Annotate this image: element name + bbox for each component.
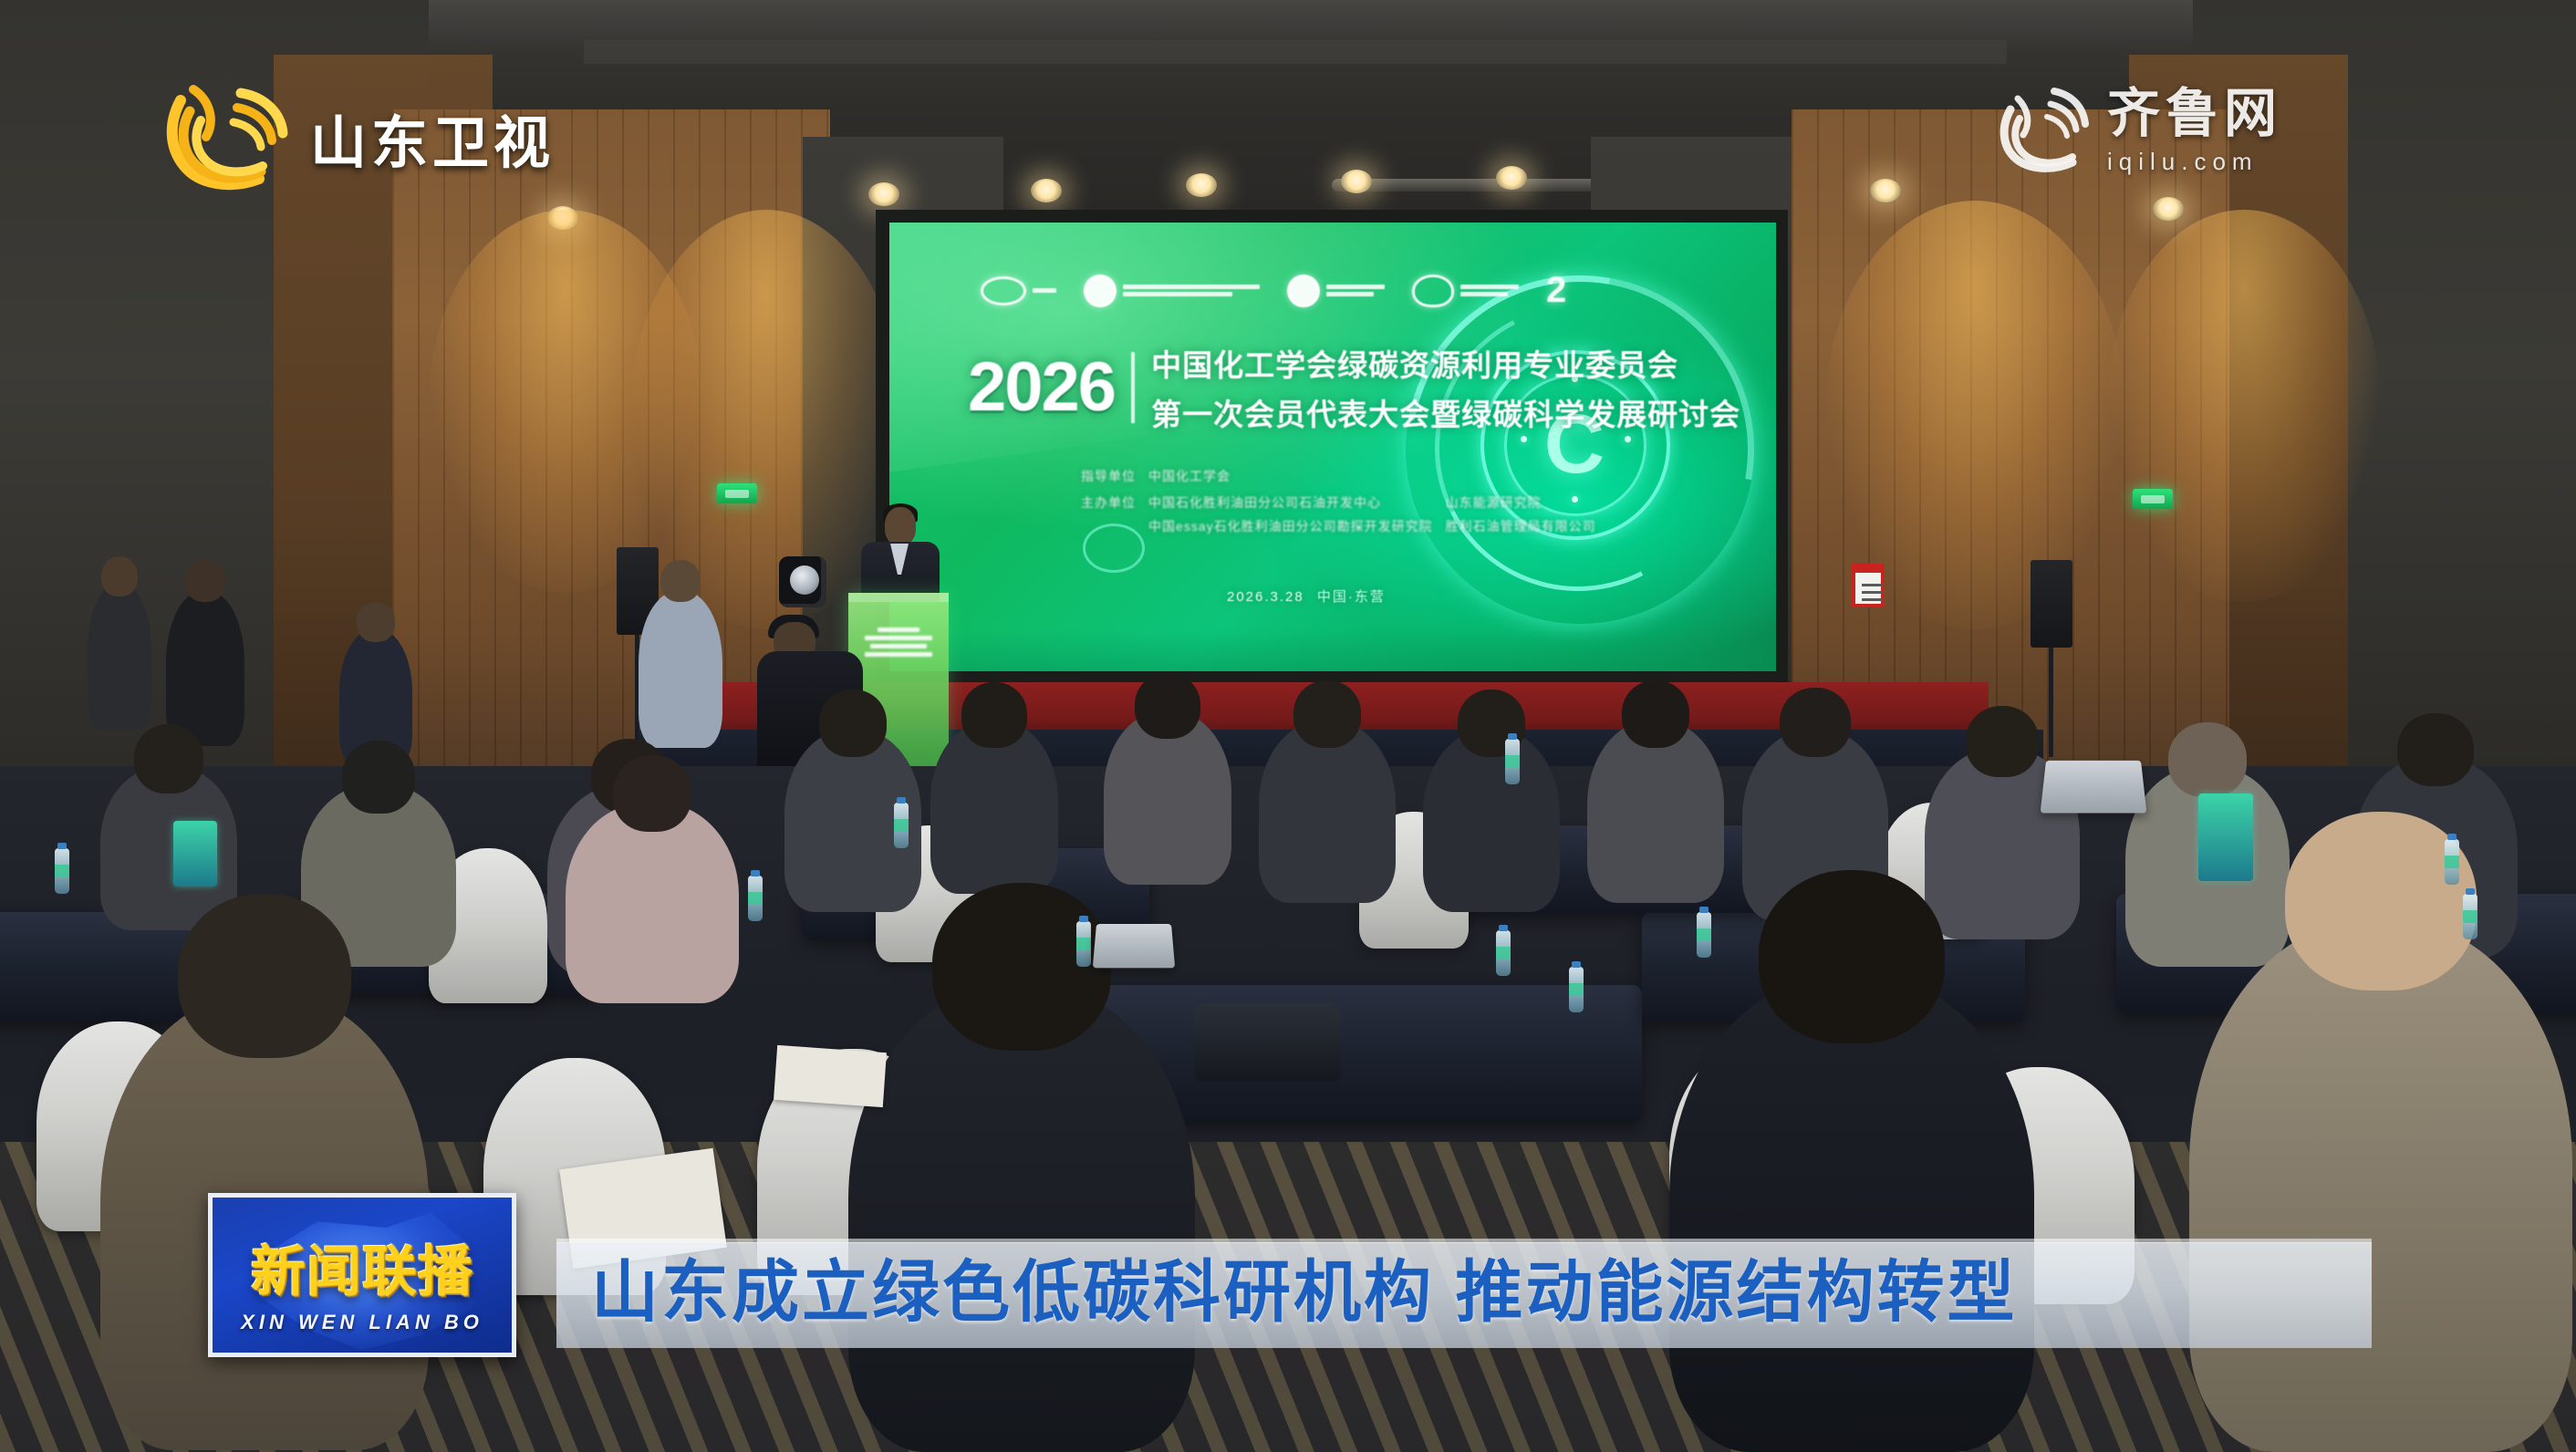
- standing-camera-operator: [166, 591, 244, 746]
- screen-subinfo-row: 指导单位 中国化工学会: [1081, 467, 1596, 485]
- attendee-head: [1622, 680, 1689, 748]
- ceiling-downlight: [868, 182, 899, 206]
- attendee-head: [819, 690, 887, 757]
- screen-date-value: 2026.3.28: [1227, 589, 1304, 605]
- screen-title-block: 2026 中国化工学会绿碳资源利用专业委员会 第一次会员代表大会暨绿碳科学发展研…: [968, 341, 1740, 434]
- exit-sign-left: [717, 483, 757, 503]
- water-bottle: [55, 848, 69, 894]
- attendee-head: [1966, 706, 2039, 777]
- subinfo-values-secondary: 山东能源研究院 胜利石油管理局有限公司: [1446, 493, 1596, 535]
- attendee-head: [1135, 673, 1200, 739]
- attendee-head: [1780, 688, 1851, 757]
- program-title-pinyin: XIN WEN LIAN BO: [213, 1311, 512, 1334]
- foreground-attendee: [848, 985, 1195, 1452]
- sponsor-logo: [1287, 275, 1385, 307]
- sponsor-wordmark: [1033, 288, 1056, 293]
- screen-location: 中国·东营: [1317, 589, 1386, 605]
- attendee-head: [932, 883, 1111, 1051]
- sponsor-mark-icon: [1287, 275, 1320, 307]
- channel-name: 山东卫视: [310, 97, 555, 179]
- water-bottle: [2463, 894, 2477, 939]
- attendee-head: [2168, 722, 2247, 797]
- exit-sign-glyph: [725, 490, 749, 498]
- sponsor-mark-icon: [1084, 275, 1117, 307]
- ceiling-downlight: [1496, 166, 1527, 190]
- sponsor-number-mark: 2: [1546, 270, 1563, 311]
- sponsor-logo: [1412, 275, 1519, 307]
- subinfo-value: 山东能源研究院: [1446, 493, 1596, 512]
- qilu-swirl-icon: [1994, 84, 2093, 179]
- attendee-head: [660, 560, 701, 602]
- attendee-head: [357, 602, 395, 642]
- stage-led-screen: C 2: [889, 223, 1776, 671]
- shandong-swirl-icon: [153, 80, 296, 195]
- seated-attendee: [1104, 711, 1231, 885]
- fire-equipment-sign: [1852, 564, 1885, 607]
- screen-title-lines: 中国化工学会绿碳资源利用专业委员会 第一次会员代表大会暨绿碳科学发展研讨会: [1151, 341, 1740, 434]
- sponsor-logo: [1084, 275, 1260, 307]
- screen-title-line1: 中国化工学会绿碳资源利用专业委员会: [1151, 341, 1740, 385]
- subinfo-values: 中国化工学会: [1148, 467, 1231, 485]
- sponsor-wordmark: [1460, 285, 1519, 296]
- seated-attendee: [566, 803, 739, 1003]
- pa-speaker-stand-right: [2049, 648, 2053, 757]
- seated-attendee: [930, 721, 1058, 894]
- exit-sign-right: [2133, 489, 2173, 509]
- watermark-text: 齐鲁网 iqilu.com: [2107, 88, 2282, 176]
- swirl-dot: [1521, 436, 1527, 442]
- attendee-head: [134, 724, 203, 793]
- sponsor-logo: [981, 276, 1056, 306]
- attendee-head: [613, 755, 691, 832]
- channel-logo: 山东卫视: [153, 80, 555, 195]
- program-badge: 新闻联播 XIN WEN LIAN BO: [208, 1193, 516, 1357]
- attendee-head: [1759, 870, 1945, 1043]
- seated-attendee: [1423, 730, 1560, 912]
- seated-attendee: [1587, 721, 1724, 903]
- attendee-head: [178, 894, 351, 1058]
- attendee-head: [1293, 680, 1361, 748]
- ceiling-downlight: [2153, 197, 2184, 221]
- printed-paper: [774, 1045, 887, 1107]
- subinfo-values: 中国石化胜利油田分公司石油开发中心 中国essay石化胜利油田分公司勘探开发研究…: [1148, 493, 1433, 535]
- foreground-photographer: [2189, 921, 2572, 1452]
- led-bottom-shadow: [889, 629, 1776, 671]
- presenter-at-podium: [856, 507, 943, 602]
- sponsor-mark-icon: [1412, 275, 1454, 307]
- foreground-attendee: [1669, 976, 2034, 1452]
- attendee-head: [101, 556, 138, 596]
- pa-loudspeaker-right: [2031, 560, 2072, 648]
- water-bottle: [1505, 739, 1520, 784]
- water-bottle: [894, 803, 909, 848]
- fire-sign-line: [1862, 584, 1882, 586]
- ceiling-slab: [584, 40, 2008, 64]
- attendee-head: [342, 741, 415, 814]
- watermark-name-en: iqilu.com: [2107, 148, 2259, 176]
- attendee-head: [961, 682, 1027, 748]
- carbon-c-letter: C: [1397, 266, 1752, 622]
- broadcast-frame: C 2: [0, 0, 2576, 1452]
- subinfo-label: 主办单位: [1081, 493, 1136, 512]
- water-bottle: [2445, 839, 2459, 885]
- water-bottle: [1076, 921, 1091, 967]
- laptop: [1093, 924, 1175, 968]
- exit-sign-glyph: [2141, 495, 2165, 503]
- subinfo-value: 胜利石油管理局有限公司: [1446, 517, 1596, 535]
- bag-on-table: [1195, 1003, 1341, 1082]
- water-bottle: [748, 876, 763, 921]
- screen-subinfo-row: 主办单位 中国石化胜利油田分公司石油开发中心 中国essay石化胜利油田分公司勘…: [1081, 493, 1596, 535]
- fire-sign-line: [1862, 591, 1882, 594]
- fire-sign-header: [1852, 564, 1885, 573]
- carbon-swirl-graphic: C: [1397, 266, 1752, 622]
- program-title-cn: 新闻联播: [213, 1245, 512, 1300]
- water-bottle: [1697, 912, 1711, 958]
- standing-attendee: [88, 584, 151, 730]
- seated-attendee: [1259, 721, 1396, 903]
- ceiling-downlight: [1341, 170, 1372, 193]
- screen-title-line2: 第一次会员代表大会暨绿碳科学发展研讨会: [1151, 390, 1740, 434]
- sponsor-wordmark: [1326, 285, 1385, 296]
- subinfo-value: 中国石化胜利油田分公司石油开发中心: [1148, 493, 1433, 512]
- camera-lens-icon: [790, 565, 819, 595]
- water-bottle: [1496, 930, 1511, 976]
- attendee-head: [2397, 713, 2474, 786]
- ceiling-downlight: [1870, 179, 1901, 202]
- sponsor-mark-icon: [981, 276, 1026, 306]
- news-headline: 山东成立绿色低碳科研机构 推动能源结构转型: [591, 1259, 2018, 1326]
- screen-date: 2026.3.28 中国·东营: [1227, 586, 1386, 606]
- title-divider: [1131, 352, 1135, 423]
- sponsor-wordmark: [1123, 285, 1260, 296]
- podium-label: [861, 627, 936, 657]
- laptop: [2041, 761, 2147, 814]
- fire-sign-line: [1862, 598, 1882, 601]
- attendee-head: [185, 560, 225, 602]
- watermark-name-cn: 齐鲁网: [2107, 88, 2282, 140]
- site-watermark: 齐鲁网 iqilu.com: [1994, 84, 2282, 179]
- subinfo-value: 中国essay石化胜利油田分公司勘探开发研究院: [1148, 517, 1433, 535]
- smartphone-icon: [2198, 793, 2253, 881]
- presenter-head: [885, 507, 916, 545]
- standing-attendee: [639, 591, 722, 748]
- subinfo-label: 指导单位: [1081, 467, 1136, 485]
- smartphone-icon: [173, 821, 217, 887]
- sponsor-logo-row: 2: [981, 270, 1563, 311]
- screen-year: 2026: [968, 353, 1115, 422]
- sponsor-logo: 2: [1546, 270, 1563, 311]
- ceiling-downlight: [1186, 173, 1217, 197]
- screen-subinfo-block: 指导单位 中国化工学会 主办单位 中国石化胜利油田分公司石油开发中心 中国ess…: [1081, 467, 1596, 535]
- water-bottle: [1569, 967, 1584, 1012]
- swirl-dot: [1625, 436, 1631, 442]
- subinfo-value: 中国化工学会: [1148, 467, 1231, 485]
- ceiling-downlight: [547, 206, 578, 230]
- ceiling-downlight: [1031, 179, 1062, 202]
